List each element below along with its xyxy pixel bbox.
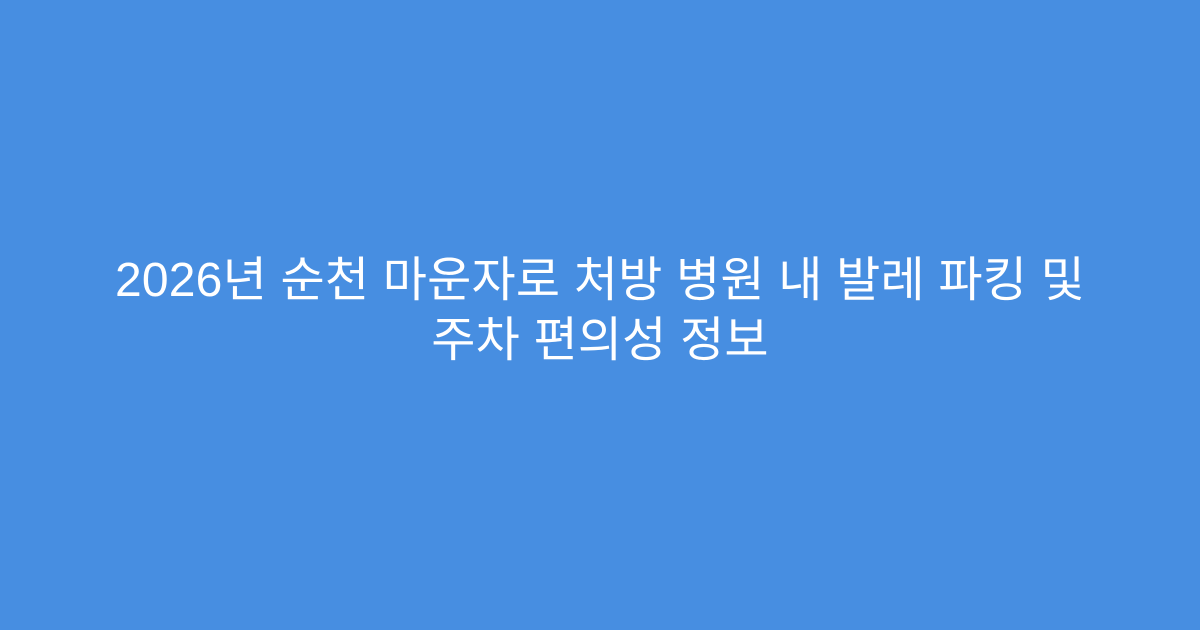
og-card-canvas: 2026년 순천 마운자로 처방 병원 내 발레 파킹 및 주차 편의성 정보 <box>0 0 1200 630</box>
page-title: 2026년 순천 마운자로 처방 병원 내 발레 파킹 및 주차 편의성 정보 <box>90 251 1110 371</box>
title-block: 2026년 순천 마운자로 처방 병원 내 발레 파킹 및 주차 편의성 정보 <box>50 251 1150 371</box>
